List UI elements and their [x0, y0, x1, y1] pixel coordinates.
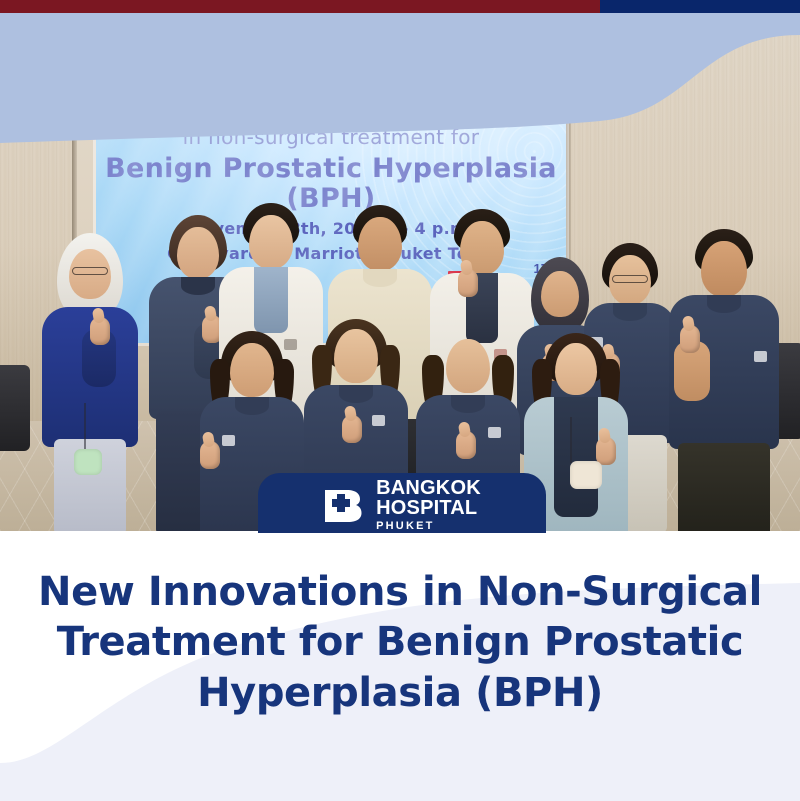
- face: [230, 343, 274, 397]
- caption-area: New Innovations in Non-Surgical Treatmen…: [0, 531, 800, 801]
- collar: [235, 397, 269, 415]
- slide-line-1: in non-surgical treatment for: [96, 125, 566, 149]
- person-back-1: [34, 233, 146, 531]
- promo-card: in non-surgical treatment for Benign Pro…: [0, 0, 800, 801]
- topbar-navy-segment: [600, 0, 800, 13]
- topbar-maroon-segment: [0, 0, 600, 13]
- thumbs-up-icon: [596, 437, 616, 465]
- top-accent-bar: [0, 0, 800, 13]
- page-title: New Innovations in Non-Surgical Treatmen…: [0, 567, 800, 718]
- polo-logo: [372, 415, 385, 426]
- inner-shirt: [254, 267, 288, 333]
- logo-line-phuket: PHUKET: [376, 521, 481, 532]
- slide-line-2: Benign Prostatic Hyperplasia: [96, 153, 566, 184]
- thumbs-up-icon: [456, 431, 476, 459]
- face: [446, 339, 490, 393]
- polo-logo: [488, 427, 501, 438]
- face: [358, 217, 402, 271]
- logo-line-bangkok: BANGKOK: [376, 478, 481, 498]
- face: [541, 271, 579, 317]
- face-mask: [74, 449, 102, 475]
- face: [249, 215, 293, 269]
- bangkok-hospital-logo-badge: BANGKOK HOSPITAL PHUKET: [258, 473, 546, 533]
- face: [555, 343, 597, 395]
- chair-left-1: [0, 365, 30, 451]
- thumbs-up-icon: [200, 441, 220, 469]
- face-mask: [570, 461, 602, 489]
- thumbs-up-icon: [342, 415, 362, 443]
- bangkok-hospital-b-cross-mark: [323, 486, 365, 524]
- group-photo: in non-surgical treatment for Benign Pro…: [0, 13, 800, 531]
- glasses-icon: [612, 275, 648, 283]
- glasses-icon: [72, 267, 108, 275]
- thumbs-up-icon: [90, 317, 110, 345]
- collar: [451, 395, 485, 413]
- lanyard: [570, 417, 572, 463]
- polo-logo: [754, 351, 767, 362]
- collar: [613, 303, 647, 321]
- face: [701, 241, 747, 297]
- collar: [363, 269, 397, 287]
- dark-trousers: [678, 443, 770, 531]
- inner-top: [554, 397, 598, 517]
- thumbs-up-icon: [458, 269, 478, 297]
- collar: [181, 277, 215, 295]
- thumbs-up-icon: [680, 325, 700, 353]
- logo-line-hospital: HOSPITAL: [376, 498, 481, 518]
- collar: [707, 295, 741, 313]
- collar: [339, 385, 373, 403]
- logo-wordmark: BANGKOK HOSPITAL PHUKET: [376, 478, 481, 532]
- lanyard: [84, 403, 86, 451]
- face: [334, 329, 378, 383]
- person-back-8: [664, 229, 784, 531]
- polo-logo: [222, 435, 235, 446]
